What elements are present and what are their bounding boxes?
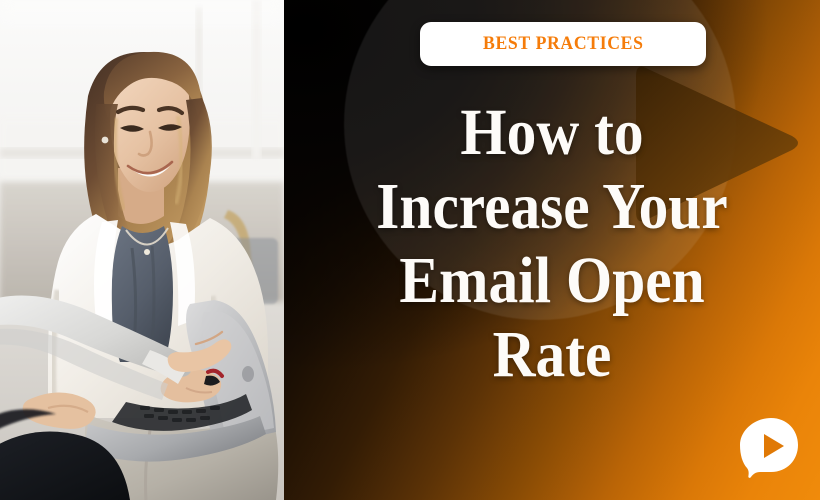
play-chat-bubble-icon[interactable]: [738, 416, 800, 480]
headline-line-4: Rate: [318, 318, 786, 392]
headline-line-1: How to: [318, 96, 786, 170]
badge-label: BEST PRACTICES: [483, 33, 644, 55]
headline-line-3: Email Open: [318, 244, 786, 318]
photo-panel: [0, 0, 284, 500]
headline-line-2: Increase Your: [318, 170, 786, 244]
photo-image: [0, 0, 284, 500]
page-title: How to Increase Your Email Open Rate: [284, 96, 820, 392]
thumbnail-canvas: BEST PRACTICES How to Increase Your Emai…: [0, 0, 820, 500]
best-practices-badge[interactable]: BEST PRACTICES: [420, 22, 706, 66]
content-panel: BEST PRACTICES How to Increase Your Emai…: [284, 0, 820, 500]
